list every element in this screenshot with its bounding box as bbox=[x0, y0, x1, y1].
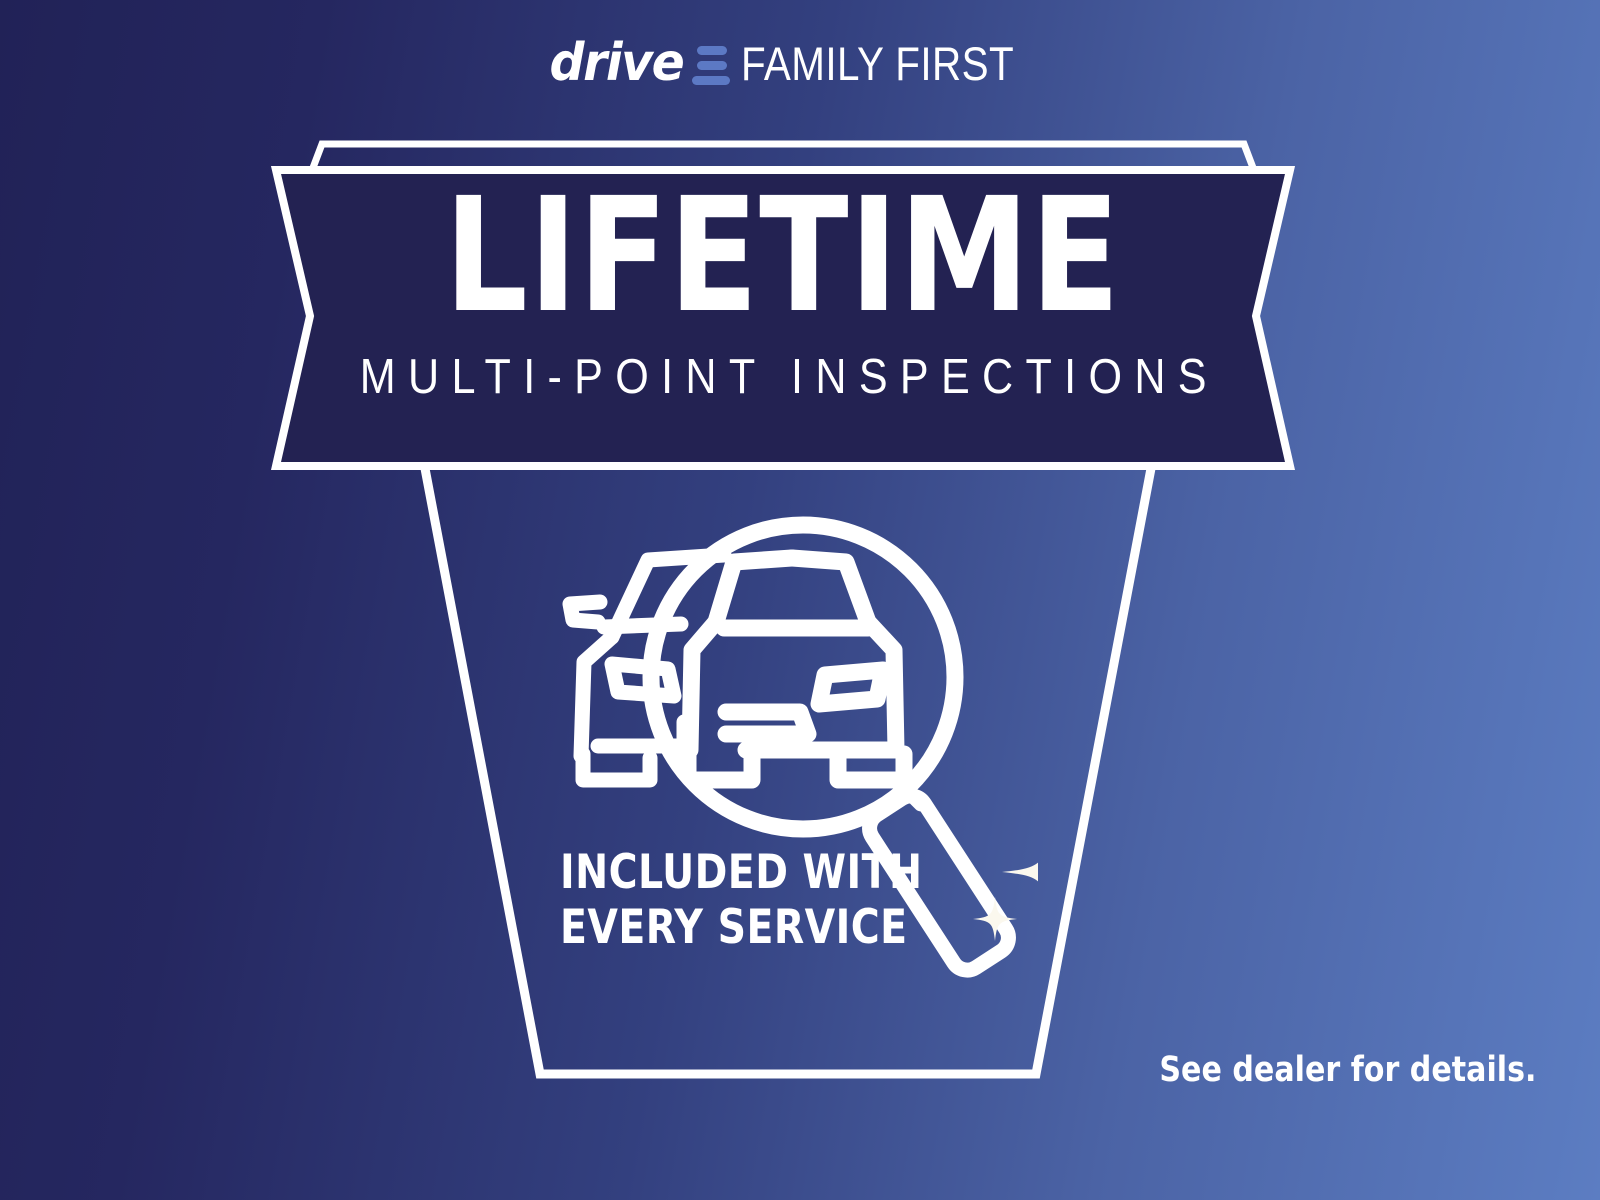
ribbon-copy: LIFETIME MULTI-POINT INSPECTIONS bbox=[268, 138, 1298, 498]
included-line-2: EVERY SERVICE bbox=[560, 900, 922, 955]
three-bars-icon bbox=[692, 42, 730, 85]
headline-lifetime: LIFETIME bbox=[445, 184, 1122, 329]
subhead-multipoint: MULTI-POINT INSPECTIONS bbox=[347, 353, 1218, 402]
brand-wordmark: drive bbox=[550, 37, 684, 89]
included-copy: INCLUDED WITH EVERY SERVICE bbox=[560, 845, 922, 955]
sparkle-icon-large bbox=[1002, 822, 1038, 922]
ribbon-banner: LIFETIME MULTI-POINT INSPECTIONS bbox=[268, 138, 1298, 498]
promo-poster: drive FAMILY FIRST LIFETIME MULTI-POINT … bbox=[0, 0, 1600, 1200]
brand-lockup: drive FAMILY FIRST bbox=[0, 32, 1600, 94]
disclaimer-text: See dealer for details. bbox=[1159, 1053, 1536, 1088]
included-line-1: INCLUDED WITH bbox=[560, 845, 922, 900]
brand-tagline: FAMILY FIRST bbox=[741, 40, 1014, 87]
car-magnified-icon bbox=[688, 558, 904, 780]
sparkle-group bbox=[973, 782, 1038, 941]
